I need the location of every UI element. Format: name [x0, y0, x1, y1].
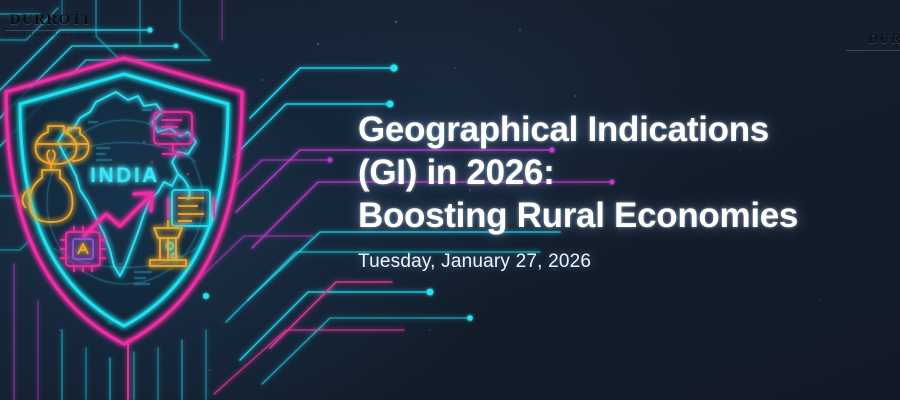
gi-shield-emblem: INDIA	[0, 50, 262, 350]
microchip-icon	[60, 226, 106, 272]
india-map-label: INDIA	[90, 164, 160, 187]
logo-top-left-wordmark: DURROTI	[4, 12, 96, 28]
headline-block: Geographical Indications (GI) in 2026: B…	[358, 108, 888, 273]
headline-line-2: (GI) in 2026:	[358, 151, 888, 194]
logo-top-right: DURR INTELLECTUALS	[845, 32, 900, 58]
logo-top-right-wordmark: DURR	[845, 32, 900, 48]
pottery-vases-icon	[36, 126, 89, 164]
logo-top-right-subtitle: INTELLECTUALS	[845, 52, 900, 58]
certificate-document-icon	[168, 190, 214, 226]
shield-inner-outline	[20, 74, 228, 326]
shield-outer-outline	[6, 58, 242, 344]
logo-top-left-subtitle: INTELLECTUAL PROPERTY ATTORNEYS	[4, 32, 96, 38]
headline-line-1: Geographical Indications	[358, 108, 888, 151]
shield-body	[8, 60, 240, 342]
event-date: Tuesday, January 27, 2026	[358, 251, 888, 273]
headline-line-3: Boosting Rural Economies	[358, 194, 888, 237]
gi-webinar-banner: INDIA	[0, 0, 900, 400]
growth-arrow-icon	[84, 193, 152, 236]
temple-pillars-icon	[150, 220, 186, 266]
pitcher-jar-icon	[23, 150, 73, 222]
computer-monitor-icon	[154, 112, 192, 154]
logo-top-left-rule	[5, 30, 95, 31]
logo-top-left: DURROTI INTELLECTUAL PROPERTY ATTORNEYS	[4, 12, 96, 38]
logo-top-right-rule	[846, 50, 900, 51]
india-map-outline	[58, 92, 196, 276]
